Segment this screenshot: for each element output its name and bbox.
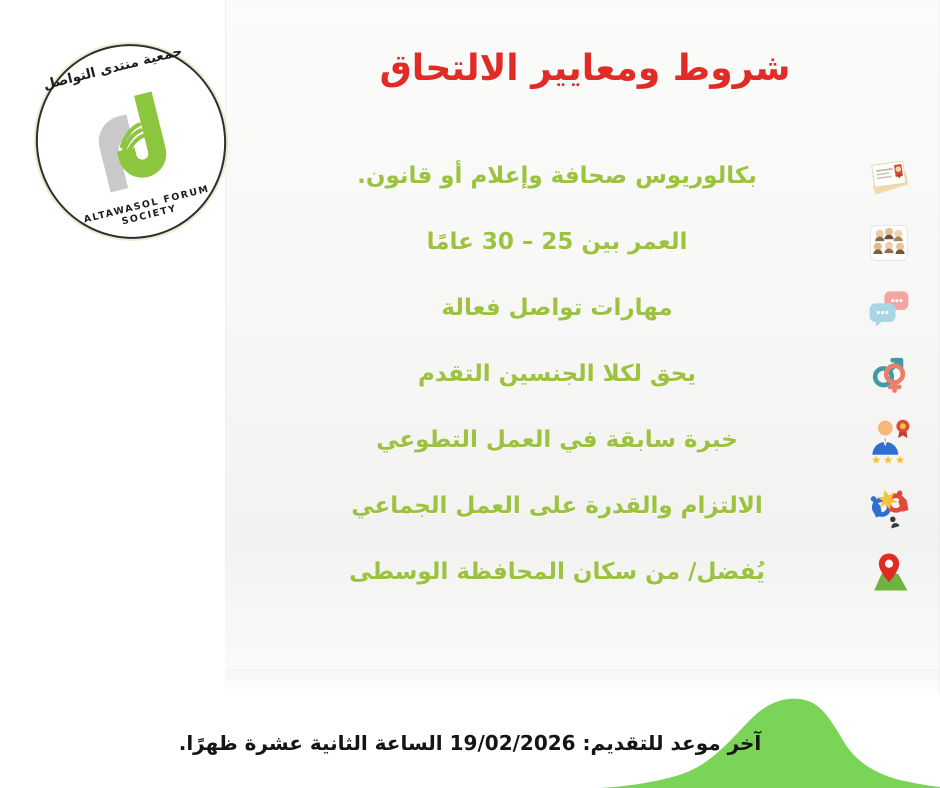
people-group-icon [863,216,915,268]
list-item: بكالوريوس صحافة وإعلام أو قانون. [255,143,915,209]
list-item: يُفضل/ من سكان المحافظة الوسطى [255,539,915,605]
poster-canvas: جمعية منتدى التواصل ALTAWASOL FORUM SOCI… [0,0,940,788]
teamwork-icon [863,480,915,532]
requirement-label: العمر بين 25 – 30 عامًا [255,229,845,255]
logo-mark-icon [66,78,196,205]
speech-bubbles-icon [863,282,915,334]
organization-logo: جمعية منتدى التواصل ALTAWASOL FORUM SOCI… [36,44,226,239]
requirement-label: بكالوريوس صحافة وإعلام أو قانون. [255,163,845,189]
deadline-text: آخر موعد للتقديم: 19/02/2026 الساعة الثا… [179,731,762,755]
list-item: مهارات تواصل فعالة [255,275,915,341]
map-pin-icon [863,546,915,598]
requirement-label: مهارات تواصل فعالة [255,295,845,321]
list-item: يحق لكلا الجنسين التقدم [255,341,915,407]
requirement-label: يُفضل/ من سكان المحافظة الوسطى [255,559,845,585]
list-item: خبرة سابقة في العمل التطوعي [255,407,915,473]
list-item: العمر بين 25 – 30 عامًا [255,209,915,275]
requirement-label: خبرة سابقة في العمل التطوعي [255,427,845,453]
gender-symbols-icon [863,348,915,400]
award-person-icon [863,414,915,466]
requirements-list: بكالوريوس صحافة وإعلام أو قانون. العمر ب [255,143,915,605]
list-item: الالتزام والقدرة على العمل الجماعي [255,473,915,539]
footer-bar: آخر موعد للتقديم: 19/02/2026 الساعة الثا… [0,718,940,768]
page-title: شروط ومعايير الالتحاق [255,48,915,89]
logo-inner: جمعية منتدى التواصل ALTAWASOL FORUM SOCI… [15,24,247,259]
requirement-label: الالتزام والقدرة على العمل الجماعي [255,493,845,519]
certificate-icon [863,150,915,202]
logo-arabic-name: جمعية منتدى التواصل [19,37,207,98]
requirement-label: يحق لكلا الجنسين التقدم [255,361,845,387]
